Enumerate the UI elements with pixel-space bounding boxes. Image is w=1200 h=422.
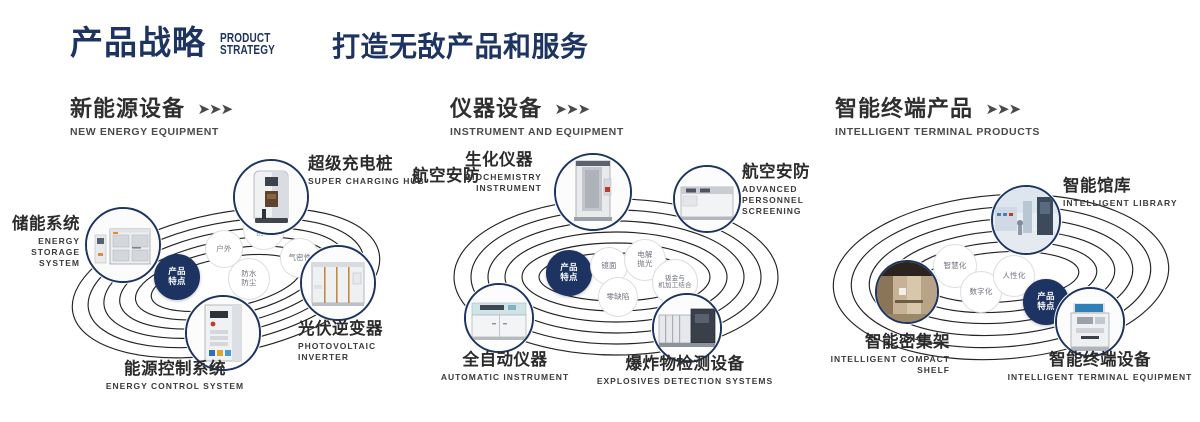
library-interior-image	[993, 187, 1059, 253]
section-title-instrument: 仪器设备 ➤➤➤ INSTRUMENT AND EQUIPMENT	[450, 96, 624, 138]
section-title-new-energy: 新能源设备 ➤➤➤ NEW ENERGY EQUIPMENT	[70, 96, 232, 138]
photo-bubble-explosives-detector[interactable]	[652, 293, 722, 363]
automatic-analyzer-image	[466, 285, 532, 351]
page-slogan: 打造无敌产品和服务	[332, 32, 589, 63]
label-cn: 能源控制系统	[85, 360, 265, 379]
cluster-instrument: 产品 特点 镜面 电解 抛光 钣金与 机加工结合 零缺陷 航空安防 生化仪器 B…	[420, 155, 820, 405]
photo-bubble-automatic-instrument[interactable]	[464, 283, 534, 353]
label-en: BIOCHEMISTRY INSTRUMENT	[465, 172, 542, 194]
explosives-detector-image	[654, 295, 720, 361]
label-energy-storage: 储能系统 ENERGY STORAGE SYSTEM	[0, 215, 80, 269]
label-biochem-instrument: 生化仪器 BIOCHEMISTRY INSTRUMENT	[465, 151, 542, 194]
cluster-new-energy: 产品 特点 户外 防腐 防锈 防水 防尘 气密性 储能系统	[30, 155, 430, 405]
screening-machine-image	[675, 167, 739, 231]
label-en: INTELLIGENT COMPACT SHELF	[765, 354, 950, 376]
pv-inverter-image	[302, 247, 374, 319]
section-title-cn: 新能源设备	[70, 96, 185, 122]
section-title-en: NEW ENERGY EQUIPMENT	[70, 126, 232, 138]
photo-bubble-pv-inverter[interactable]	[300, 245, 376, 321]
label-en: ENERGY STORAGE SYSTEM	[0, 236, 80, 269]
feature-tag: 零缺陷	[598, 277, 638, 317]
photo-bubble-screening-machine[interactable]	[673, 165, 741, 233]
label-en: EXPLOSIVES DETECTION SYSTEMS	[585, 376, 785, 387]
section-title-en: INSTRUMENT AND EQUIPMENT	[450, 126, 624, 138]
label-cn: 光伏逆变器	[298, 320, 430, 339]
label-cn: 全自动仪器	[410, 351, 600, 370]
core-feature-tag: 产品 特点	[154, 254, 200, 300]
label-intelligent-library: 智能馆库 INTELLIGENT LIBRARY	[1063, 177, 1178, 209]
biochem-scanner-image	[556, 155, 630, 229]
label-cn: 智能馆库	[1063, 177, 1178, 196]
control-cabinet-image	[187, 297, 259, 369]
photo-bubble-energy-storage[interactable]	[85, 207, 161, 283]
core-feature-tag: 产品 特点	[546, 250, 592, 296]
section-title-cn: 智能终端产品	[835, 96, 973, 122]
photo-bubble-charging-pile[interactable]	[233, 159, 309, 235]
chevron-triple-icon: ➤➤➤	[554, 100, 589, 118]
chevron-triple-icon: ➤➤➤	[197, 100, 232, 118]
label-cn: 生化仪器	[465, 151, 542, 170]
label-en: INTELLIGENT LIBRARY	[1063, 198, 1178, 209]
photo-bubble-biochem-instrument[interactable]	[554, 153, 632, 231]
label-en: ENERGY CONTROL SYSTEM	[85, 381, 265, 392]
label-explosives-detection: 爆炸物检测设备 EXPLOSIVES DETECTION SYSTEMS	[585, 355, 785, 387]
compact-shelf-image	[877, 262, 937, 322]
label-cn: 储能系统	[0, 215, 80, 234]
photo-bubble-compact-shelf[interactable]	[875, 260, 939, 324]
label-cn: 爆炸物检测设备	[585, 355, 785, 374]
section-title-cn: 仪器设备	[450, 96, 542, 122]
energy-storage-cabinet-image	[87, 209, 159, 281]
feature-tag: 防水 防尘	[228, 258, 270, 300]
label-compact-shelf: 智能密集架 INTELLIGENT COMPACT SHELF	[765, 333, 950, 376]
chevron-triple-icon: ➤➤➤	[985, 100, 1020, 118]
page-header: 产品战略 PRODUCT STRATEGY	[70, 26, 289, 59]
section-title-intelligent-terminal: 智能终端产品 ➤➤➤ INTELLIGENT TERMINAL PRODUCTS	[835, 96, 1040, 138]
self-service-kiosk-image	[1057, 289, 1123, 355]
cluster-intelligent-terminal: 智慧化 数字化 人性化 产品 特点 智能馆库 INTELLIGEN	[805, 155, 1200, 405]
page-title: 产品战略	[70, 26, 206, 59]
photo-bubble-intelligent-library[interactable]	[991, 185, 1061, 255]
label-control-cabinet: 能源控制系统 ENERGY CONTROL SYSTEM	[85, 360, 265, 392]
page-title-en: PRODUCT STRATEGY	[220, 32, 275, 59]
label-terminal-equipment: 智能终端设备 INTELLIGENT TERMINAL EQUIPMENT	[1000, 351, 1200, 383]
label-automatic-instrument: 全自动仪器 AUTOMATIC INSTRUMENT	[410, 351, 600, 383]
label-en: AUTOMATIC INSTRUMENT	[410, 372, 600, 383]
product-strategy-infographic: 产品战略 PRODUCT STRATEGY 打造无敌产品和服务 新能源设备 ➤➤…	[0, 0, 1200, 422]
photo-bubble-terminal-kiosk[interactable]	[1055, 287, 1125, 357]
charging-pile-image	[235, 161, 307, 233]
label-cn: 智能终端设备	[1000, 351, 1200, 370]
label-cn: 智能密集架	[765, 333, 950, 352]
section-title-en: INTELLIGENT TERMINAL PRODUCTS	[835, 126, 1040, 138]
label-en: INTELLIGENT TERMINAL EQUIPMENT	[1000, 372, 1200, 383]
